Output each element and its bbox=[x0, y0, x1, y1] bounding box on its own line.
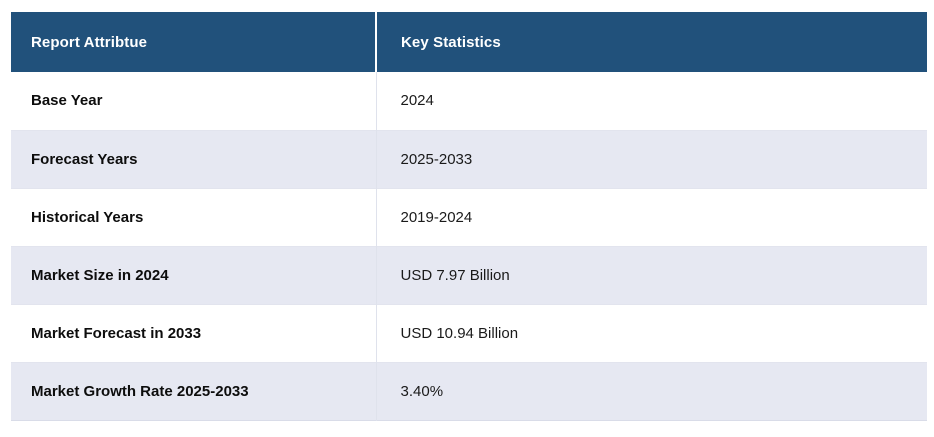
table-row: Market Size in 2024 USD 7.97 Billion bbox=[11, 246, 927, 304]
cell-statistic: USD 7.97 Billion bbox=[376, 246, 927, 304]
cell-statistic: 2019-2024 bbox=[376, 188, 927, 246]
column-header-key-statistics: Key Statistics bbox=[376, 12, 927, 72]
cell-attribute: Market Size in 2024 bbox=[11, 246, 376, 304]
cell-statistic: USD 10.94 Billion bbox=[376, 304, 927, 362]
table-row: Market Growth Rate 2025-2033 3.40% bbox=[11, 362, 927, 420]
column-header-report-attribute: Report Attribtue bbox=[11, 12, 376, 72]
cell-attribute: Market Growth Rate 2025-2033 bbox=[11, 362, 376, 420]
table-header: Report Attribtue Key Statistics bbox=[11, 12, 927, 72]
table-body: Base Year 2024 Forecast Years 2025-2033 … bbox=[11, 72, 927, 420]
table-header-row: Report Attribtue Key Statistics bbox=[11, 12, 927, 72]
cell-attribute: Historical Years bbox=[11, 188, 376, 246]
report-attributes-table-container: Report Attribtue Key Statistics Base Yea… bbox=[11, 12, 927, 425]
table-row: Historical Years 2019-2024 bbox=[11, 188, 927, 246]
table-row: Base Year 2024 bbox=[11, 72, 927, 130]
cell-attribute: Market Forecast in 2033 bbox=[11, 304, 376, 362]
cell-statistic: 3.40% bbox=[376, 362, 927, 420]
report-attributes-table: Report Attribtue Key Statistics Base Yea… bbox=[11, 12, 927, 421]
cell-statistic: 2025-2033 bbox=[376, 130, 927, 188]
cell-statistic: 2024 bbox=[376, 72, 927, 130]
cell-attribute: Forecast Years bbox=[11, 130, 376, 188]
table-row: Market Forecast in 2033 USD 10.94 Billio… bbox=[11, 304, 927, 362]
cell-attribute: Base Year bbox=[11, 72, 376, 130]
table-row: Forecast Years 2025-2033 bbox=[11, 130, 927, 188]
